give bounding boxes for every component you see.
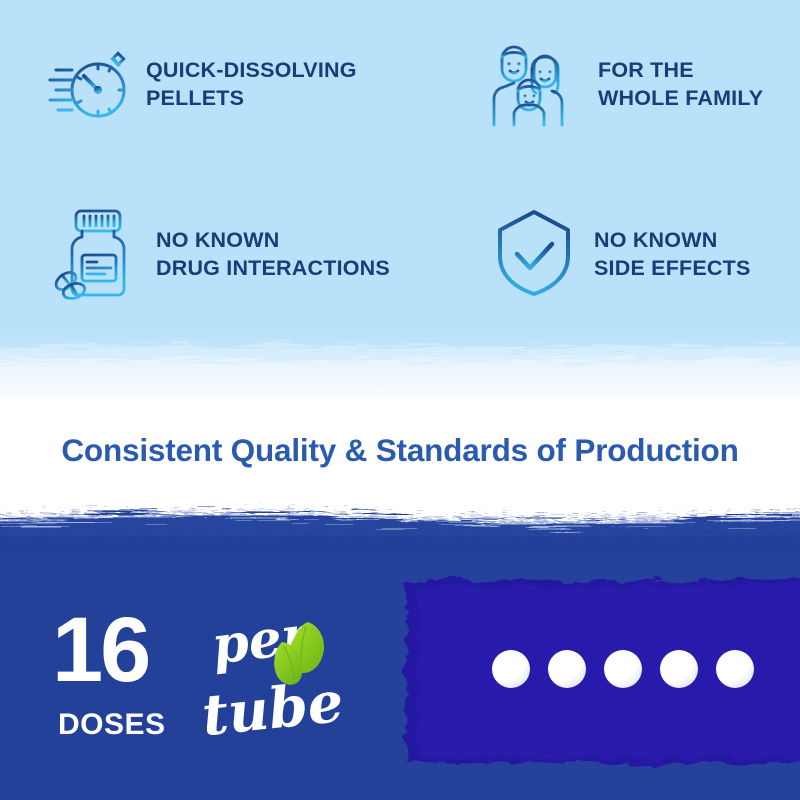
shield-check-icon	[492, 206, 576, 305]
pellet	[604, 650, 642, 688]
leaf-icon	[262, 618, 334, 695]
dose-unit-label: DOSES	[58, 708, 166, 742]
feature-item-quick-dissolving: QUICK-DISSOLVING PELLETS	[0, 0, 470, 170]
pill-bottle-icon	[54, 205, 138, 306]
pellet	[716, 650, 754, 688]
feature-label: NO KNOWN SIDE EFFECTS	[594, 227, 751, 283]
family-icon	[488, 39, 580, 132]
feature-label: FOR THE WHOLE FAMILY	[598, 57, 763, 113]
brush-fade-top	[0, 330, 800, 415]
dose-callout: 16 DOSES per tube	[52, 608, 392, 748]
stopwatch-icon	[48, 40, 128, 131]
pellet	[492, 650, 530, 688]
pellet-row	[492, 650, 754, 688]
feature-item-no-drug-interactions: NO KNOWN DRUG INTERACTIONS	[0, 170, 470, 340]
pellet	[548, 650, 586, 688]
dose-number: 16	[52, 604, 148, 696]
product-feature-panel: QUICK-DISSOLVING PELLETS	[0, 0, 800, 800]
feature-grid: QUICK-DISSOLVING PELLETS	[0, 0, 800, 340]
feature-label: NO KNOWN DRUG INTERACTIONS	[156, 227, 390, 283]
features-section: QUICK-DISSOLVING PELLETS	[0, 0, 800, 370]
pellet	[660, 650, 698, 688]
feature-label: QUICK-DISSOLVING PELLETS	[146, 57, 357, 113]
page-title: Consistent Quality & Standards of Produc…	[0, 432, 800, 469]
feature-item-whole-family: FOR THE WHOLE FAMILY	[470, 0, 800, 170]
feature-item-no-side-effects: NO KNOWN SIDE EFFECTS	[470, 170, 800, 340]
